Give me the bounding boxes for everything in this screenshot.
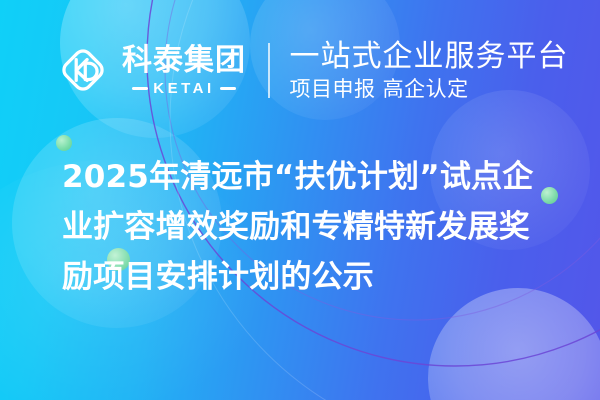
title-line-3: 励项目安排计划的公示	[62, 252, 562, 302]
promo-banner: 科泰集团 KETAI 一站式企业服务平台 项目申报 高企认定 2025年清远市“…	[0, 0, 600, 400]
brand-name-cn: 科泰集团	[122, 46, 246, 76]
brand-name-en: KETAI	[153, 81, 214, 96]
title-line-2: 业扩容增效奖励和专精特新发展奖	[62, 202, 562, 252]
tagline-secondary: 项目申报 高企认定	[290, 76, 569, 102]
wordmark-rule-left	[132, 87, 148, 90]
tagline-block: 一站式企业服务平台 项目申报 高企认定	[290, 40, 569, 103]
wordmark-rule-right	[220, 87, 236, 90]
tagline-primary: 一站式企业服务平台	[290, 40, 569, 74]
header-divider	[268, 43, 270, 98]
light-circle-bottom-right	[428, 288, 600, 400]
ketai-logo-icon	[54, 41, 112, 99]
banner-title: 2025年清远市“扶优计划”试点企 业扩容增效奖励和专精特新发展奖 励项目安排计…	[62, 152, 562, 302]
brand-wordmark: 科泰集团 KETAI	[122, 46, 246, 96]
brand-name-en-row: KETAI	[132, 81, 235, 96]
title-line-1: 2025年清远市“扶优计划”试点企	[62, 152, 562, 202]
brand-lockup[interactable]: 科泰集团 KETAI	[54, 41, 246, 99]
banner-header: 科泰集团 KETAI 一站式企业服务平台 项目申报 高企认定	[0, 0, 600, 140]
